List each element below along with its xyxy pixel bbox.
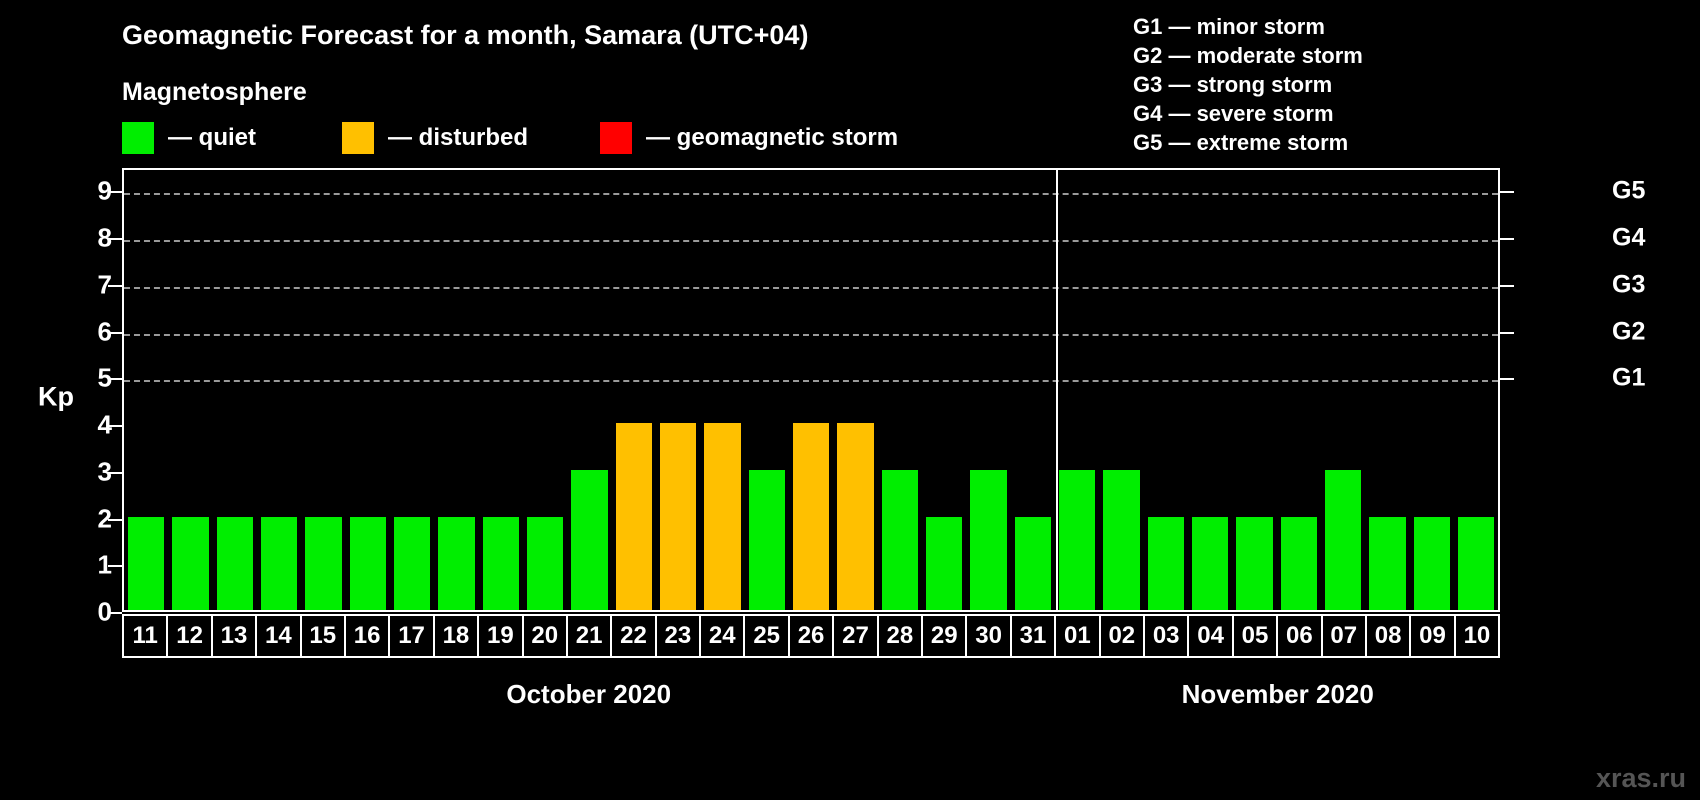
orange-square-icon [342, 122, 374, 154]
page-title: Geomagnetic Forecast for a month, Samara… [122, 20, 808, 51]
bar-cell [1055, 170, 1099, 610]
chart-plot-area [122, 168, 1500, 612]
bar-cell [1410, 170, 1454, 610]
date-cell: 26 [790, 616, 834, 656]
y-tick-mark [108, 238, 122, 240]
bar [1103, 470, 1139, 610]
storm-tick-label: G1 [1612, 364, 1645, 393]
bar-cell [1454, 170, 1498, 610]
plot-inner [124, 170, 1498, 610]
bar-cell [346, 170, 390, 610]
storm-tick-label: G4 [1612, 224, 1645, 253]
bar [1148, 517, 1184, 610]
y-axis-label: Kp [38, 382, 74, 413]
legend-item-label: — disturbed [388, 124, 528, 152]
bar-cell [434, 170, 478, 610]
storm-scale-line: G3 — strong storm [1133, 70, 1363, 99]
bar [704, 423, 740, 610]
date-cell: 28 [879, 616, 923, 656]
date-cell: 25 [745, 616, 789, 656]
bar [660, 423, 696, 610]
bar-cell [567, 170, 611, 610]
bar [483, 517, 519, 610]
y-tick-mark [108, 612, 122, 614]
bar [172, 517, 208, 610]
date-cell: 29 [923, 616, 967, 656]
magnetosphere-legend: — quiet— disturbed— geomagnetic storm [122, 122, 898, 154]
date-cell: 03 [1145, 616, 1189, 656]
storm-tick-label: G3 [1612, 270, 1645, 299]
magnetosphere-heading: Magnetosphere [122, 78, 307, 107]
y-tick-mark [108, 191, 122, 193]
storm-scale-line: G5 — extreme storm [1133, 128, 1363, 157]
bar [926, 517, 962, 610]
bar-cell [523, 170, 567, 610]
date-cell: 21 [568, 616, 612, 656]
bar-cell [1321, 170, 1365, 610]
storm-tick-label: G5 [1612, 177, 1645, 206]
bar-cell [656, 170, 700, 610]
bar-series [124, 170, 1498, 610]
bar [1236, 517, 1272, 610]
legend-item-label: — quiet [168, 124, 256, 152]
bar [128, 517, 164, 610]
date-cell: 19 [479, 616, 523, 656]
date-cell: 23 [657, 616, 701, 656]
bar-cell [922, 170, 966, 610]
bar [616, 423, 652, 610]
bar [1059, 470, 1095, 610]
month-label: October 2020 [506, 679, 671, 710]
date-cell: 20 [524, 616, 568, 656]
date-cell: 05 [1234, 616, 1278, 656]
storm-tick-mark [1500, 378, 1514, 380]
date-cell: 08 [1367, 616, 1411, 656]
bar-cell [257, 170, 301, 610]
bar-cell [1188, 170, 1232, 610]
date-cell: 30 [967, 616, 1011, 656]
date-cell: 24 [701, 616, 745, 656]
bar [1015, 517, 1051, 610]
legend-item: — quiet [122, 122, 256, 154]
bar-cell [878, 170, 922, 610]
bar-cell [1277, 170, 1321, 610]
bar-cell [700, 170, 744, 610]
bar [261, 517, 297, 610]
bar [571, 470, 607, 610]
bar [1281, 517, 1317, 610]
bar [837, 423, 873, 610]
date-cell: 06 [1278, 616, 1322, 656]
bar [350, 517, 386, 610]
storm-tick-mark [1500, 285, 1514, 287]
bar-cell [1232, 170, 1276, 610]
bar-cell [1099, 170, 1143, 610]
month-label: November 2020 [1182, 679, 1374, 710]
bar [882, 470, 918, 610]
bar [1325, 470, 1361, 610]
bar [1458, 517, 1494, 610]
storm-scale-line: G1 — minor storm [1133, 12, 1363, 41]
date-cell: 09 [1411, 616, 1455, 656]
bar [217, 517, 253, 610]
bar-cell [966, 170, 1010, 610]
y-tick-mark [108, 519, 122, 521]
bar [305, 517, 341, 610]
storm-tick-mark [1500, 238, 1514, 240]
red-square-icon [600, 122, 632, 154]
date-cell: 15 [302, 616, 346, 656]
storm-tick-mark [1500, 191, 1514, 193]
bar [1369, 517, 1405, 610]
y-tick-mark [108, 565, 122, 567]
date-cell: 31 [1012, 616, 1056, 656]
date-cell: 14 [257, 616, 301, 656]
bar-cell [124, 170, 168, 610]
date-cell: 13 [213, 616, 257, 656]
bar [793, 423, 829, 610]
site-watermark: xras.ru [1596, 763, 1686, 794]
date-cell: 17 [390, 616, 434, 656]
y-tick-mark [108, 378, 122, 380]
bar-cell [213, 170, 257, 610]
date-cell: 02 [1101, 616, 1145, 656]
date-cell: 12 [168, 616, 212, 656]
bar [527, 517, 563, 610]
bar [1414, 517, 1450, 610]
bar-cell [1011, 170, 1055, 610]
date-cell: 07 [1323, 616, 1367, 656]
bar-cell [301, 170, 345, 610]
bar-cell [833, 170, 877, 610]
bar [394, 517, 430, 610]
y-tick-mark [108, 425, 122, 427]
bar-cell [789, 170, 833, 610]
bar-cell [1365, 170, 1409, 610]
bar [970, 470, 1006, 610]
y-tick-mark [108, 332, 122, 334]
bar [1192, 517, 1228, 610]
legend-item: — disturbed [342, 122, 528, 154]
date-cell: 01 [1056, 616, 1100, 656]
date-cell: 18 [435, 616, 479, 656]
legend-item-label: — geomagnetic storm [646, 124, 898, 152]
bar [438, 517, 474, 610]
bar [749, 470, 785, 610]
date-cell: 11 [124, 616, 168, 656]
bar-cell [1144, 170, 1188, 610]
date-cell: 16 [346, 616, 390, 656]
y-tick-mark [108, 472, 122, 474]
storm-scale-legend: G1 — minor stormG2 — moderate stormG3 — … [1133, 12, 1363, 157]
y-tick-mark [108, 285, 122, 287]
month-divider-line [1056, 170, 1058, 610]
legend-item: — geomagnetic storm [600, 122, 898, 154]
storm-tick-label: G2 [1612, 317, 1645, 346]
date-axis-row: 1112131415161718192021222324252627282930… [122, 614, 1500, 658]
date-cell: 22 [612, 616, 656, 656]
bar-cell [168, 170, 212, 610]
bar-cell [612, 170, 656, 610]
date-cell: 10 [1456, 616, 1498, 656]
bar-cell [390, 170, 434, 610]
bar-cell [479, 170, 523, 610]
date-cell: 04 [1189, 616, 1233, 656]
storm-scale-line: G2 — moderate storm [1133, 41, 1363, 70]
storm-tick-mark [1500, 332, 1514, 334]
date-cell: 27 [834, 616, 878, 656]
green-square-icon [122, 122, 154, 154]
bar-cell [745, 170, 789, 610]
storm-scale-line: G4 — severe storm [1133, 99, 1363, 128]
